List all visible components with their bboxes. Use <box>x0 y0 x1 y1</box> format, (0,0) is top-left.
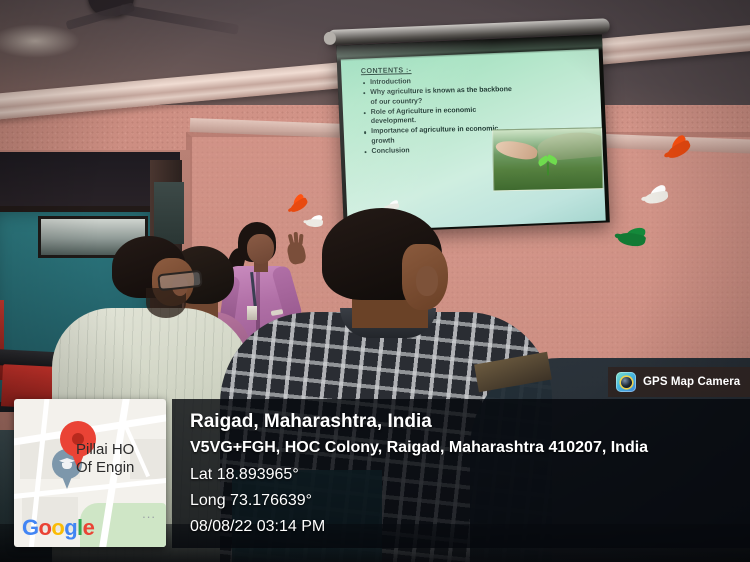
map-poi-label-line2: Of Engin <box>76 459 166 477</box>
gps-map-camera-photo: CONTENTS :- Introduction Why agriculture… <box>0 0 750 562</box>
map-poi-label-line1: Pillai HO <box>76 441 166 459</box>
gps-map-camera-badge: GPS Map Camera <box>608 367 750 397</box>
map-thumbnail[interactable]: Pillai HO Of Engin ... Google <box>14 399 166 547</box>
sprout-stem <box>547 162 549 175</box>
google-logo-g1: G <box>22 515 39 540</box>
projector-screen: CONTENTS :- Introduction Why agriculture… <box>336 35 610 234</box>
slide-bullet: Role of Agriculture in economic developm… <box>371 105 521 127</box>
gps-city-line: Raigad, Maharashtra, India <box>190 409 750 434</box>
map-poi-label: Pillai HO Of Engin <box>76 441 166 477</box>
projector-screen-surface: CONTENTS :- Introduction Why agriculture… <box>336 35 610 234</box>
gps-address-line: V5VG+FGH, HOC Colony, Raigad, Maharashtr… <box>190 436 750 459</box>
audience-left-glasses <box>157 270 203 292</box>
gps-longitude-line: Long 73.176639° <box>190 488 750 514</box>
lens-glyph <box>621 377 632 388</box>
google-logo-e: e <box>83 515 95 540</box>
door-upper-glass <box>154 182 184 244</box>
map-overflow-dots: ... <box>142 506 156 521</box>
google-logo-o1: o <box>39 515 52 540</box>
slide-image-sprout <box>538 155 560 175</box>
gps-latitude-line: Lat 18.893965° <box>190 462 750 488</box>
slide-image-seedling <box>492 127 603 191</box>
camera-lens-icon <box>616 372 636 392</box>
google-logo: Google <box>22 515 94 541</box>
gps-info-panel: Raigad, Maharashtra, India V5VG+FGH, HOC… <box>172 399 750 548</box>
gps-timestamp-line: 08/08/22 03:14 PM <box>190 514 750 540</box>
google-logo-g2: g <box>64 515 77 540</box>
presentation-slide: CONTENTS :- Introduction Why agriculture… <box>361 61 596 222</box>
slide-image-hand <box>494 138 538 162</box>
google-logo-o2: o <box>51 515 64 540</box>
gps-app-name: GPS Map Camera <box>643 376 740 388</box>
audience-front-ear <box>416 266 438 296</box>
slide-bullet: Why agriculture is known as the backbone… <box>370 85 520 107</box>
